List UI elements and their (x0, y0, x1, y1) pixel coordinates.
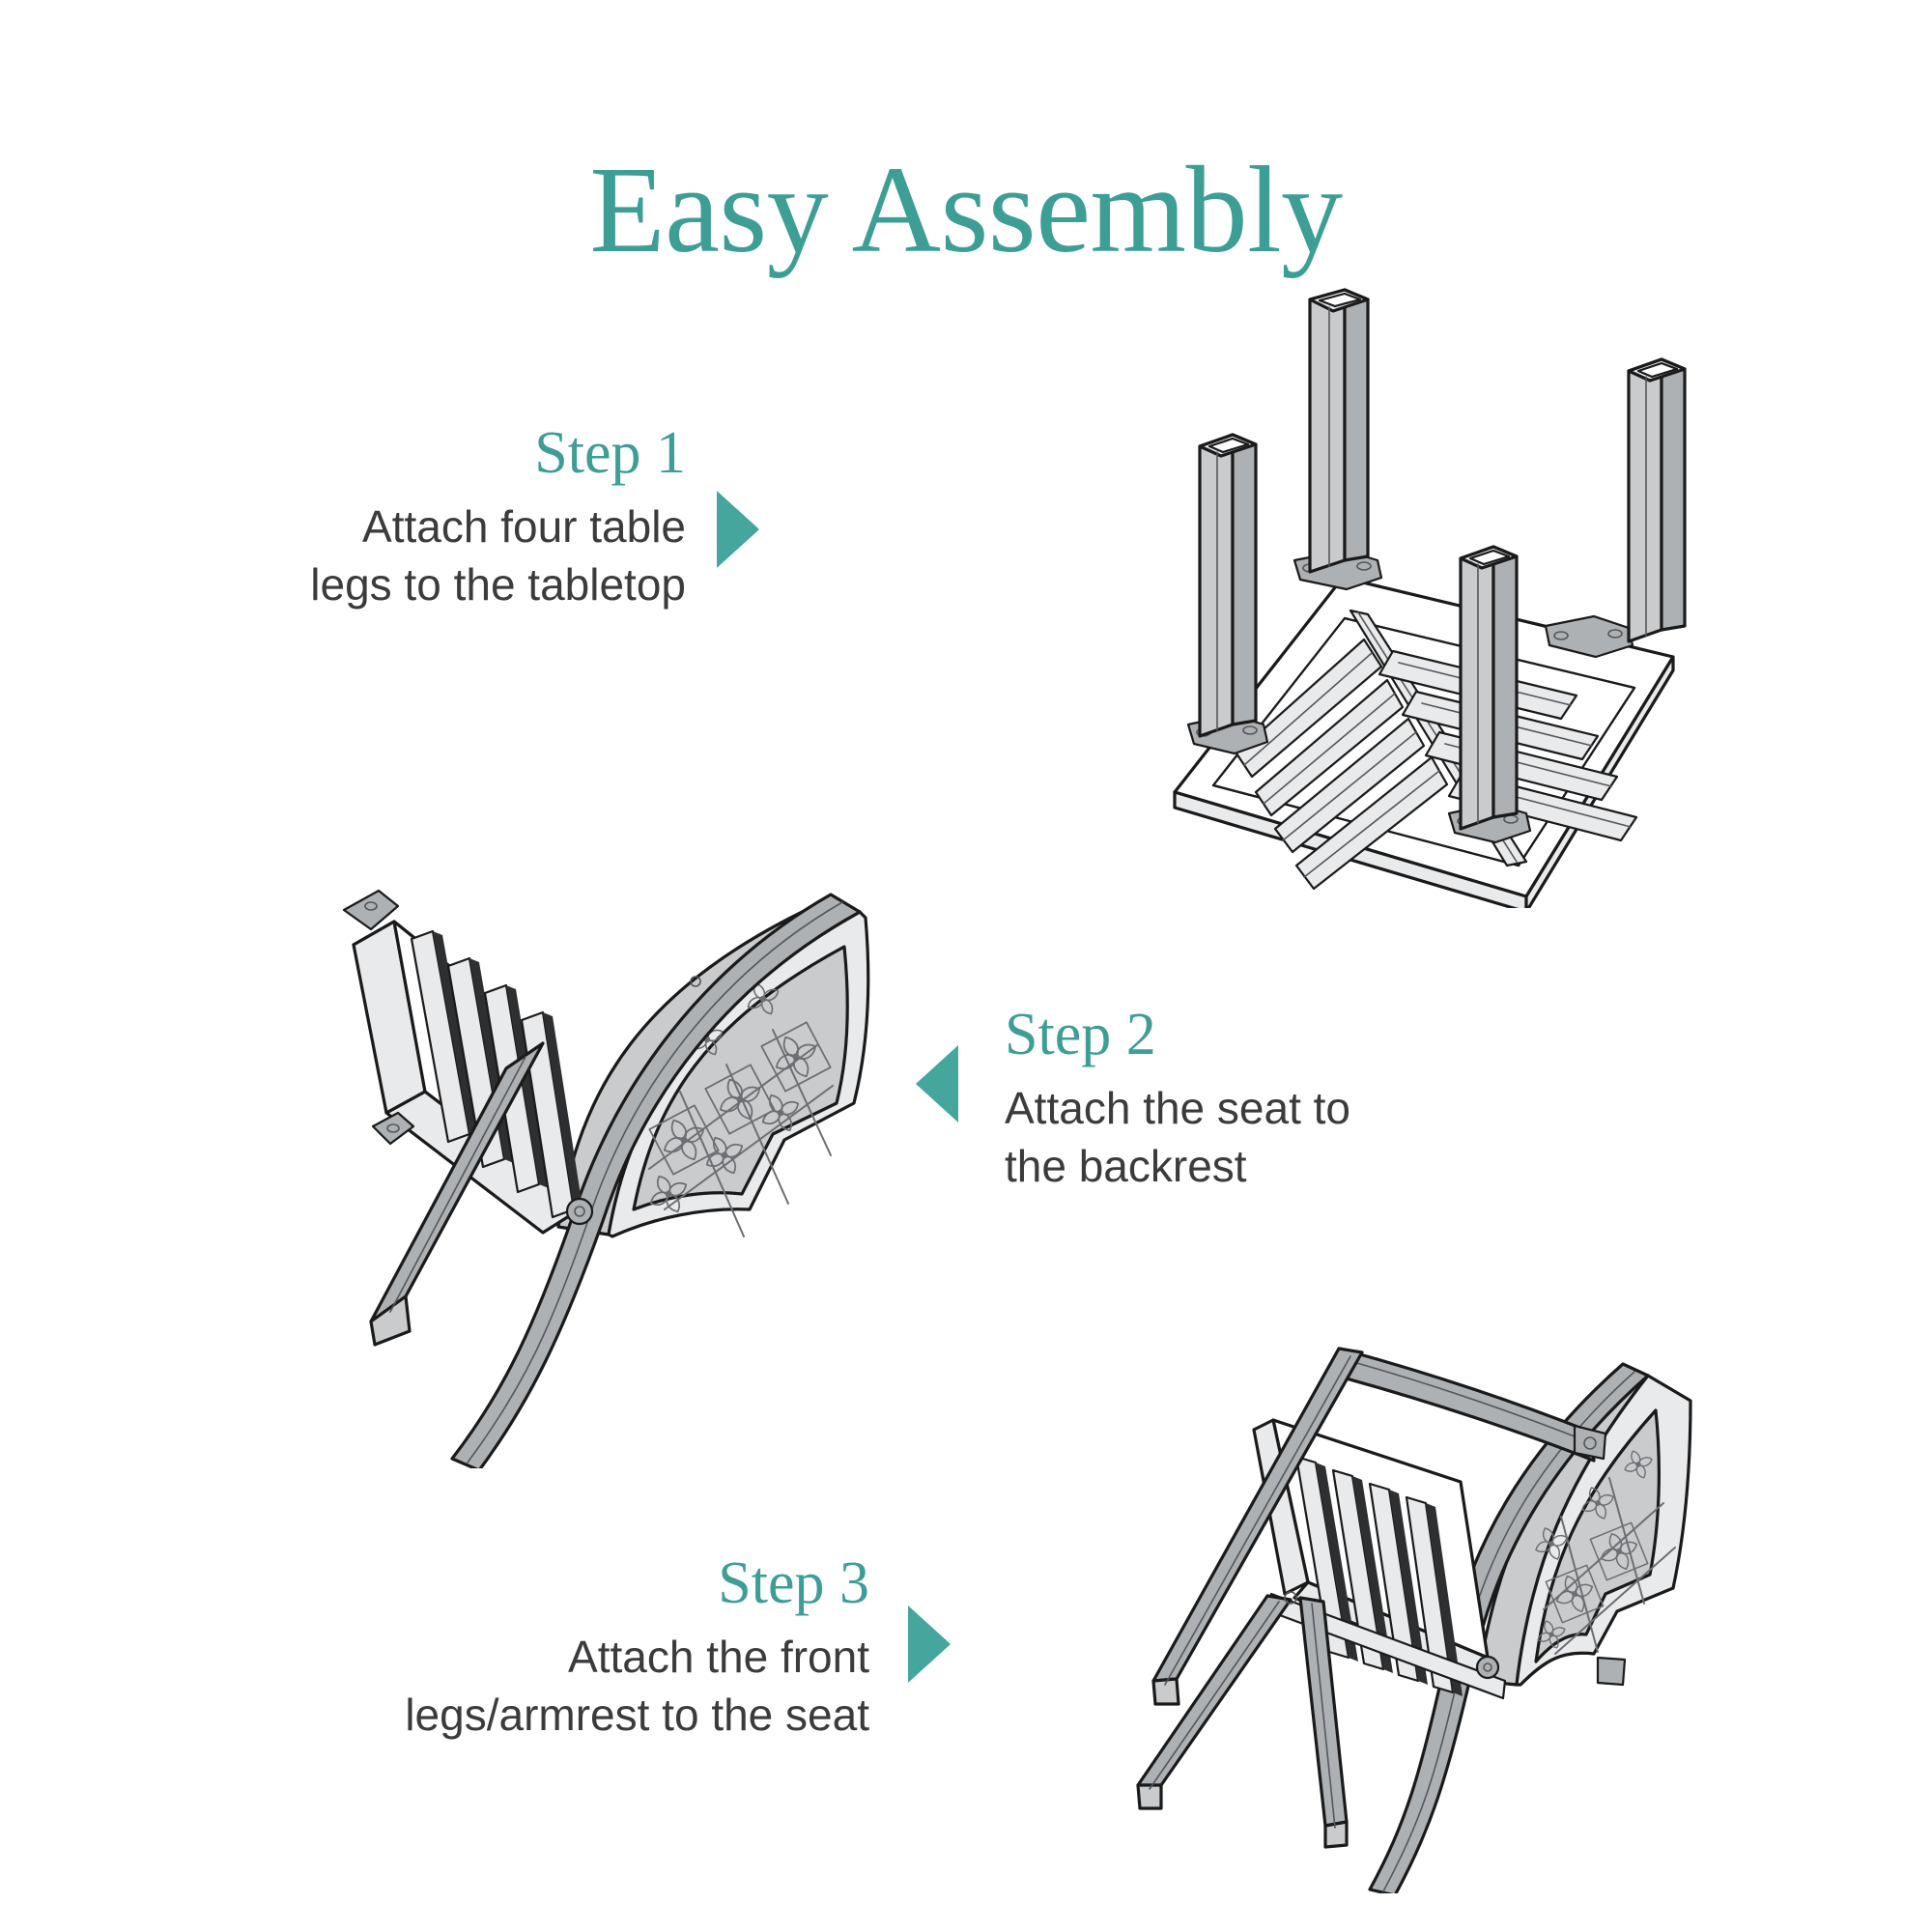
seat-backrest-joint (567, 1199, 592, 1224)
step-3-description: Attach the front legs/armrest to the sea… (193, 1629, 869, 1745)
triangle-right-icon (717, 491, 759, 568)
step-2-text-block: Step 2 Attach the seat to the backrest (1005, 1005, 1517, 1196)
chair-rear-foot-tab (1598, 1658, 1625, 1685)
step-1-description: Attach four table legs to the tabletop (203, 498, 686, 614)
page-title: Easy Assembly (0, 143, 1932, 276)
assembly-instructions-page: Easy Assembly Step 1 Attach four table l… (0, 0, 1932, 1932)
step-1-label: Step 1 (203, 423, 686, 483)
table-legs-tabletop-illustration (1140, 270, 1758, 908)
table-leg-right (1629, 359, 1685, 641)
chair-seat-joint (1477, 1657, 1498, 1678)
table-leg-front (1461, 547, 1517, 829)
table-leg-left (1200, 435, 1256, 736)
step-2-description: Attach the seat to the backrest (1005, 1080, 1517, 1196)
triangle-right-icon (908, 1605, 951, 1683)
triangle-left-icon (916, 1045, 958, 1122)
table-leg-back (1310, 290, 1368, 572)
front-legs-armrest-seat-illustration (1014, 1275, 1729, 1893)
step-3-label: Step 3 (193, 1553, 869, 1613)
chair-armrest-top-bar (1339, 1349, 1594, 1461)
step-2-label: Step 2 (1005, 1005, 1517, 1065)
step-1-text-block: Step 1 Attach four table legs to the tab… (203, 423, 686, 614)
seat-backrest-illustration (290, 850, 927, 1468)
step-3-text-block: Step 3 Attach the front legs/armrest to … (193, 1553, 869, 1745)
